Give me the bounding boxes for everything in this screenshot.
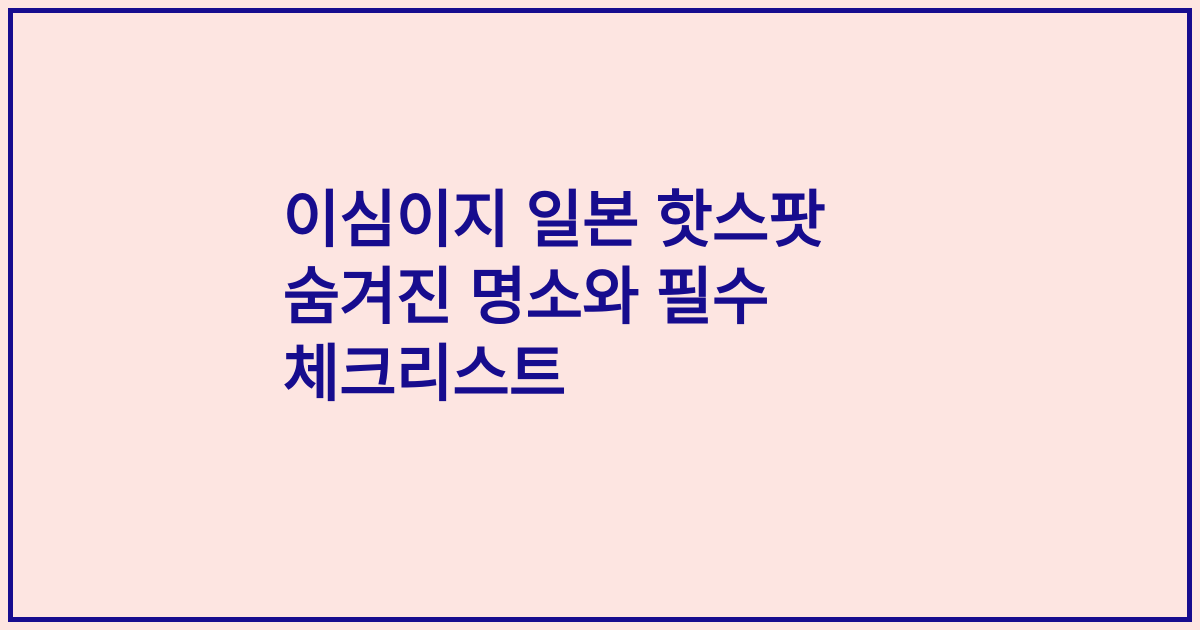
title-block: 이심이지 일본 핫스팟숨겨진 명소와 필수체크리스트 xyxy=(283,182,983,413)
thumbnail-card: 이심이지 일본 핫스팟숨겨진 명소와 필수체크리스트 xyxy=(0,0,1200,630)
title-line-3: 체크리스트 xyxy=(283,336,983,413)
page-title: 이심이지 일본 핫스팟숨겨진 명소와 필수체크리스트 xyxy=(283,182,983,413)
title-line-1: 이심이지 일본 핫스팟 xyxy=(283,182,983,259)
title-line-2: 숨겨진 명소와 필수 xyxy=(283,259,983,336)
